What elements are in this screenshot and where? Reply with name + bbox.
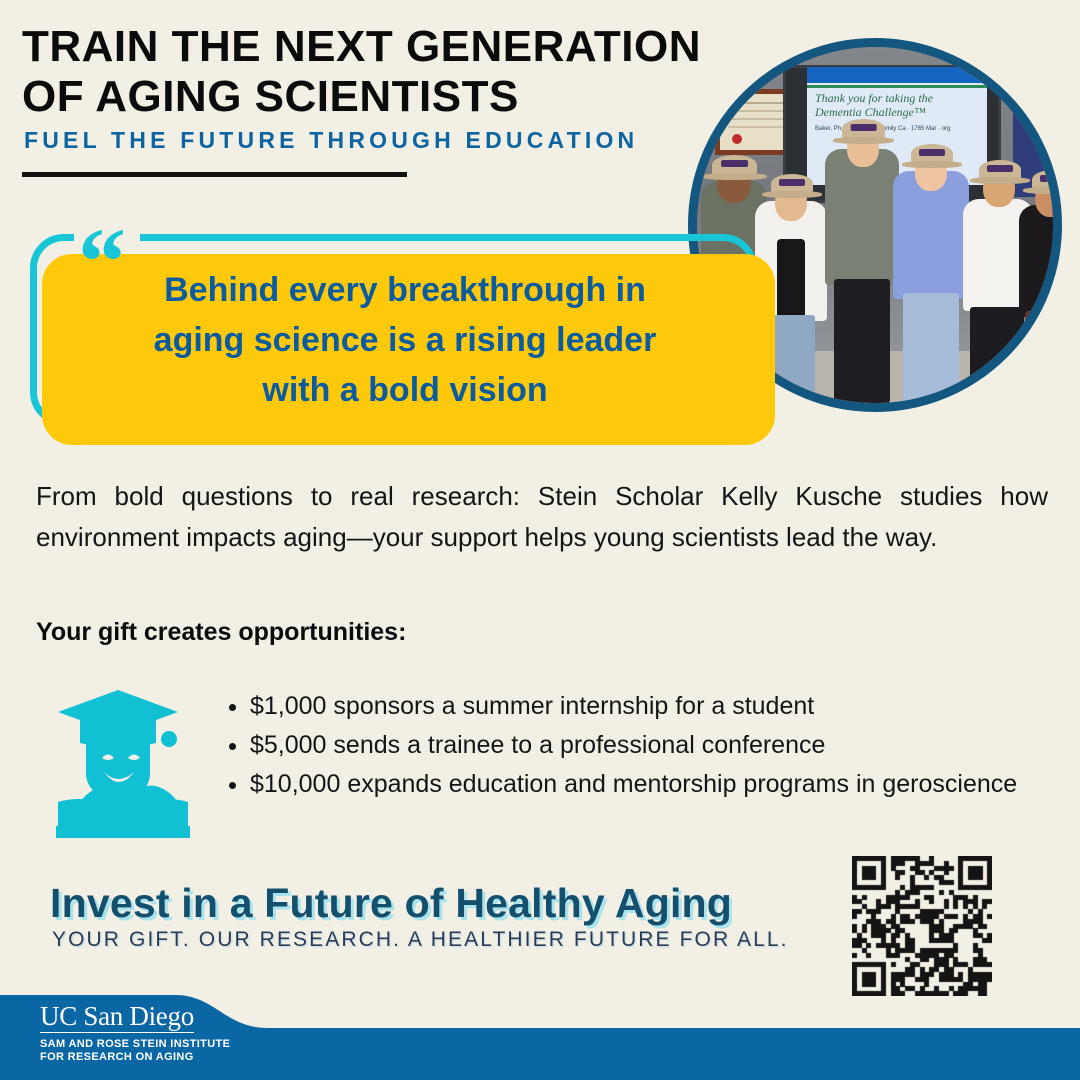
page-title: Train the Next Generation of Aging Scien… bbox=[22, 22, 712, 122]
closing-headline: Invest in a Future of Healthy Aging bbox=[50, 880, 732, 927]
gift-bullet-list: $1,000 sponsors a summer internship for … bbox=[222, 688, 1080, 805]
slide-title: Thank you for taking the bbox=[815, 91, 981, 105]
quote-line-3: with a bold vision bbox=[60, 365, 750, 415]
quote-line-2: aging science is a rising leader bbox=[60, 315, 750, 365]
poster-canvas: Train the Next Generation of Aging Scien… bbox=[0, 0, 1080, 1080]
photo-person-6 bbox=[1019, 167, 1053, 403]
photo-person-4 bbox=[893, 135, 969, 403]
logo-institute-line-1: SAM AND ROSE STEIN INSTITUTE bbox=[40, 1038, 230, 1051]
closing-tagline: YOUR GIFT. OUR RESEARCH. A HEALTHIER FUT… bbox=[52, 928, 789, 952]
list-item: $5,000 sends a trainee to a professional… bbox=[250, 727, 1080, 764]
body-paragraph: From bold questions to real research: St… bbox=[36, 476, 1048, 558]
logo-wordmark: UC San Diego bbox=[40, 1002, 194, 1033]
quote-line-1: Behind every breakthrough in bbox=[60, 265, 750, 315]
page-subtitle: Fuel the Future Through Education bbox=[24, 127, 638, 154]
quote-text: Behind every breakthrough in aging scien… bbox=[60, 265, 750, 415]
graduate-icon bbox=[56, 686, 206, 838]
qr-code[interactable] bbox=[852, 856, 992, 996]
list-item: $1,000 sponsors a summer internship for … bbox=[250, 688, 1080, 725]
photo-person-3 bbox=[825, 113, 899, 403]
gift-subheading: Your gift creates opportunities: bbox=[36, 618, 406, 647]
header-divider bbox=[22, 172, 407, 177]
list-item: $10,000 expands education and mentorship… bbox=[250, 766, 1080, 803]
uc-san-diego-logo: UC San Diego SAM AND ROSE STEIN INSTITUT… bbox=[40, 1002, 230, 1064]
logo-institute-line-2: FOR RESEARCH ON AGING bbox=[40, 1051, 230, 1064]
